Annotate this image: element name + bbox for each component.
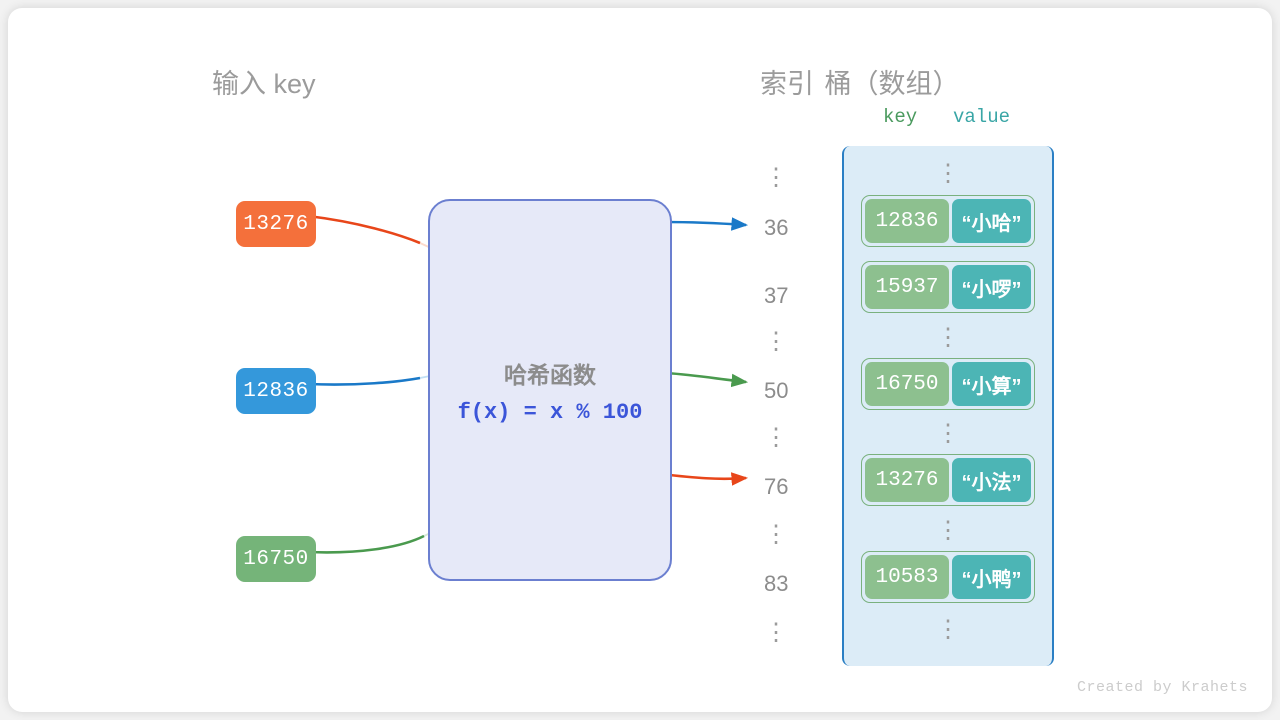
index-ellipsis: ⋮	[764, 164, 808, 192]
index-ellipsis: ⋮	[764, 328, 808, 356]
index-label: 36	[764, 215, 808, 241]
bucket-ellipsis: ⋮	[861, 420, 1035, 448]
bucket-entry[interactable]: 10583 “小鸭”	[861, 551, 1035, 603]
index-label: 76	[764, 474, 808, 500]
column-header-index: 索引	[760, 62, 814, 101]
bucket-entry-key: 13276	[865, 458, 949, 502]
bucket-ellipsis: ⋮	[861, 616, 1035, 644]
hash-function-box	[428, 199, 672, 581]
bucket-entry[interactable]: 12836 “小哈”	[861, 195, 1035, 247]
column-header-input: 输入 key	[212, 62, 316, 101]
index-label: 37	[764, 283, 808, 309]
column-header-bucket: 桶（数组）	[825, 62, 960, 101]
index-ellipsis: ⋮	[764, 619, 808, 647]
input-key-box[interactable]: 12836	[236, 368, 316, 414]
bucket-entry-key: 12836	[865, 199, 949, 243]
index-label: 83	[764, 571, 808, 597]
bucket-entry-value: “小哈”	[952, 199, 1031, 243]
input-key-box[interactable]: 16750	[236, 536, 316, 582]
bucket-entry[interactable]: 15937 “小啰”	[861, 261, 1035, 313]
input-key-box[interactable]: 13276	[236, 201, 316, 247]
bucket-entry-value: “小鸭”	[952, 555, 1031, 599]
column-subheader-key: key	[883, 106, 917, 128]
bucket-entry-value: “小法”	[952, 458, 1031, 502]
bucket-ellipsis: ⋮	[861, 517, 1035, 545]
bucket-entry-key: 15937	[865, 265, 949, 309]
credit-label: Created by Krahets	[1077, 679, 1248, 696]
bucket-entry-key: 10583	[865, 555, 949, 599]
bucket-ellipsis: ⋮	[861, 160, 1035, 188]
index-ellipsis: ⋮	[764, 521, 808, 549]
column-subheader-value: value	[953, 106, 1010, 128]
index-ellipsis: ⋮	[764, 424, 808, 452]
bucket-entry-key: 16750	[865, 362, 949, 406]
diagram-canvas: 输入 key 索引 桶（数组） key value	[0, 0, 1280, 720]
bucket-entry[interactable]: 13276 “小法”	[861, 454, 1035, 506]
bucket-ellipsis: ⋮	[861, 324, 1035, 352]
bucket-entry-value: “小啰”	[952, 265, 1031, 309]
hash-function-title: 哈希函数	[428, 356, 672, 390]
bucket-entry[interactable]: 16750 “小算”	[861, 358, 1035, 410]
hash-function-formula: f(x) = x % 100	[428, 400, 672, 425]
index-label: 50	[764, 378, 808, 404]
diagram-card: 输入 key 索引 桶（数组） key value	[8, 8, 1272, 712]
bucket-entry-value: “小算”	[952, 362, 1031, 406]
